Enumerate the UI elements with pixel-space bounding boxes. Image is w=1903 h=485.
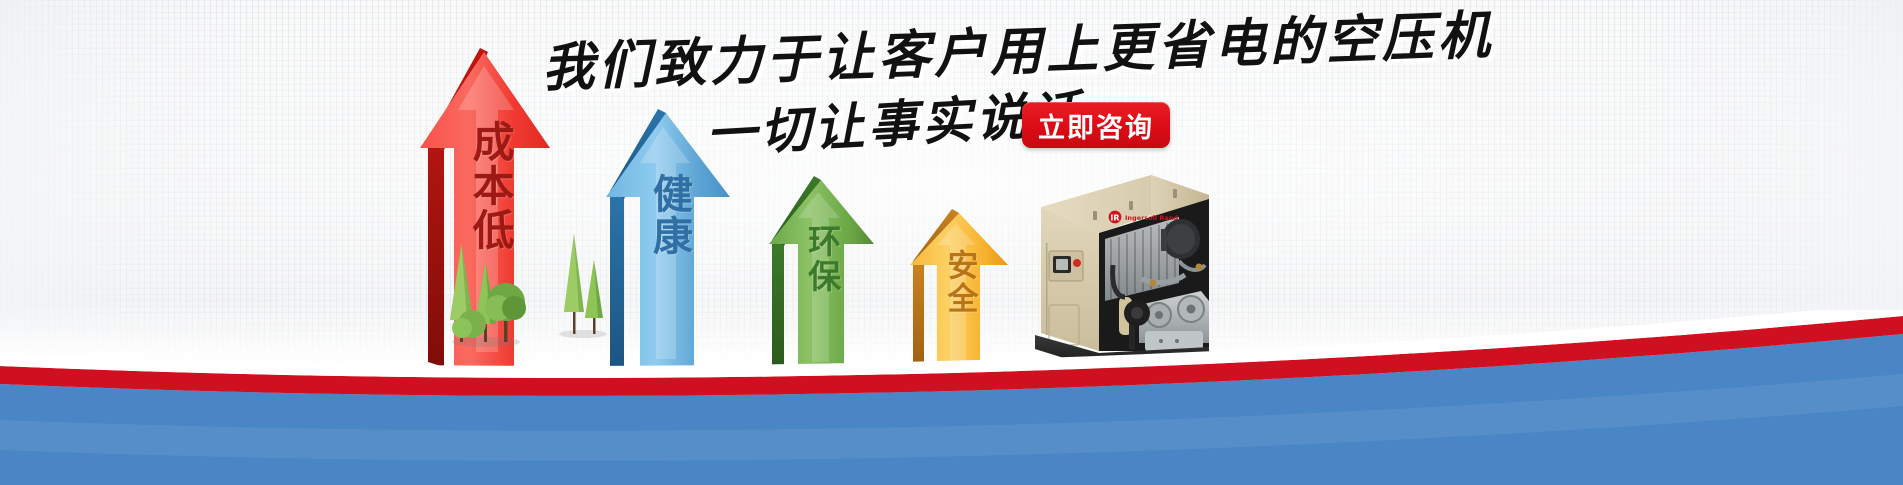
arrow-safety-label: 安全 bbox=[943, 249, 976, 315]
arrow-eco-label: 环保 bbox=[804, 224, 839, 294]
bottom-wave-stripes bbox=[0, 310, 1903, 485]
arrow-health-label: 健康 bbox=[648, 173, 690, 257]
svg-text:Ingersoll Rand: Ingersoll Rand bbox=[1125, 214, 1178, 222]
consult-now-button[interactable]: 立即咨询 bbox=[1022, 102, 1170, 148]
svg-text:IR: IR bbox=[1110, 214, 1119, 223]
promo-banner: 成本低 健康 bbox=[0, 0, 1903, 485]
